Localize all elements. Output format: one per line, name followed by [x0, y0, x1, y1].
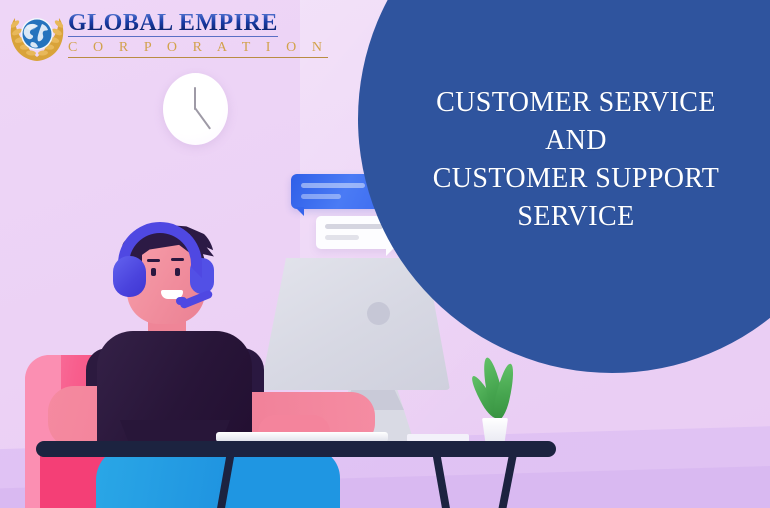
hero-headline: CUSTOMER SERVICE AND CUSTOMER SUPPORT SE…	[382, 84, 770, 236]
brand-logo[interactable]: GLOBAL EMPIRE C O R P O R A T I O N	[8, 8, 293, 68]
promo-banner: CUSTOMER SERVICE AND CUSTOMER SUPPORT SE…	[0, 0, 770, 508]
monitor-logo-icon	[367, 302, 390, 325]
wall-clock	[163, 73, 228, 145]
work-desk-top	[36, 441, 556, 457]
globe-laurel-wreath-icon	[8, 10, 66, 64]
brand-name-primary: GLOBAL EMPIRE	[68, 11, 278, 37]
headset-earcup-left	[113, 256, 146, 297]
hero-headline-line-1: CUSTOMER SERVICE	[382, 84, 770, 122]
chat-line	[301, 183, 365, 188]
chat-line	[301, 194, 341, 199]
chat-line	[325, 235, 359, 240]
hero-headline-line-3: CUSTOMER SUPPORT	[382, 160, 770, 198]
chat-line	[325, 224, 383, 229]
hero-headline-line-4: SERVICE	[382, 198, 770, 236]
hero-headline-line-2: AND	[382, 122, 770, 160]
brand-logo-text: GLOBAL EMPIRE C O R P O R A T I O N	[68, 11, 288, 58]
agent-legs-front	[228, 448, 340, 508]
brand-name-secondary: C O R P O R A T I O N	[68, 40, 328, 58]
headset-mic-tip	[176, 297, 187, 305]
clock-minute-hand	[194, 107, 211, 129]
